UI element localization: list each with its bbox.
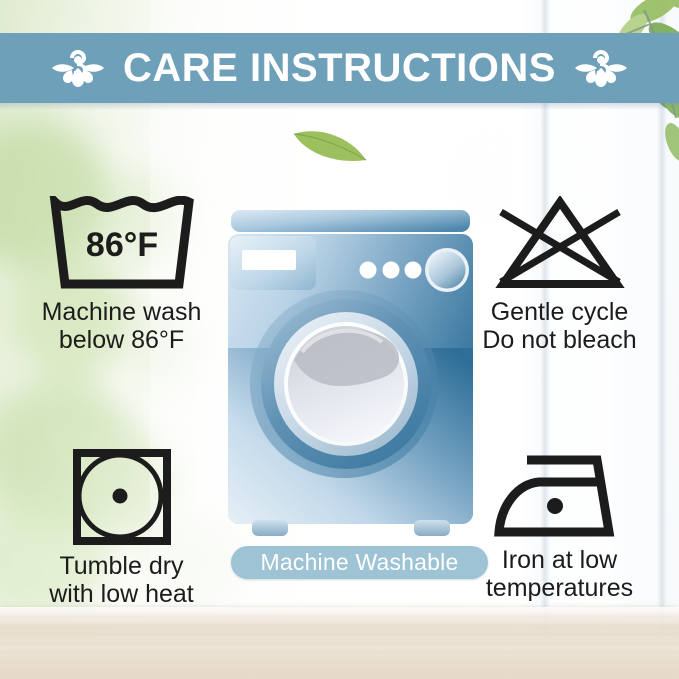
page-title: CARE INSTRUCTIONS	[123, 46, 556, 91]
care-symbol-caption: Tumble dry with low heat	[14, 552, 229, 608]
care-instructions-graphic: CARE INSTRUCTIONS 86°F Machine wash belo…	[0, 0, 679, 679]
control-button[interactable]	[405, 262, 422, 279]
machine-foot	[252, 520, 288, 536]
triangle-crossed-out-icon	[495, 196, 625, 292]
tumble-dry-square-circle-icon	[71, 448, 173, 546]
care-symbol-iron: Iron at low temperatures	[452, 448, 667, 602]
wash-tub-icon: 86°F	[47, 196, 197, 292]
care-symbol-caption: Gentle cycle Do not bleach	[452, 298, 667, 354]
heat-level-dot	[547, 498, 563, 514]
control-button[interactable]	[383, 262, 400, 279]
floating-leaf-icon	[288, 122, 372, 166]
care-symbol-do-not-bleach: Gentle cycle Do not bleach	[452, 196, 667, 354]
badge-label: Machine Washable	[261, 549, 459, 576]
program-dial-knob[interactable]	[429, 252, 466, 289]
care-symbol-machine-wash: 86°F Machine wash below 86°F	[14, 196, 229, 354]
wooden-surface	[0, 607, 679, 679]
machine-washable-badge: Machine Washable	[231, 546, 488, 579]
header-banner: CARE INSTRUCTIONS	[0, 33, 679, 103]
machine-foot	[414, 520, 450, 536]
fleur-de-lis-icon	[51, 46, 105, 90]
wash-temperature-label: 86°F	[85, 226, 157, 264]
control-button[interactable]	[360, 262, 377, 279]
care-symbol-caption: Machine wash below 86°F	[14, 298, 229, 354]
iron-icon	[491, 448, 629, 540]
machine-top-lid	[231, 210, 470, 232]
fleur-de-lis-icon	[574, 46, 628, 90]
drawer-handle	[242, 250, 296, 270]
care-symbol-tumble-dry: Tumble dry with low heat	[14, 448, 229, 608]
banner-dropshadow	[0, 103, 679, 110]
heat-level-dot	[112, 489, 127, 504]
washing-machine-illustration	[228, 208, 473, 538]
